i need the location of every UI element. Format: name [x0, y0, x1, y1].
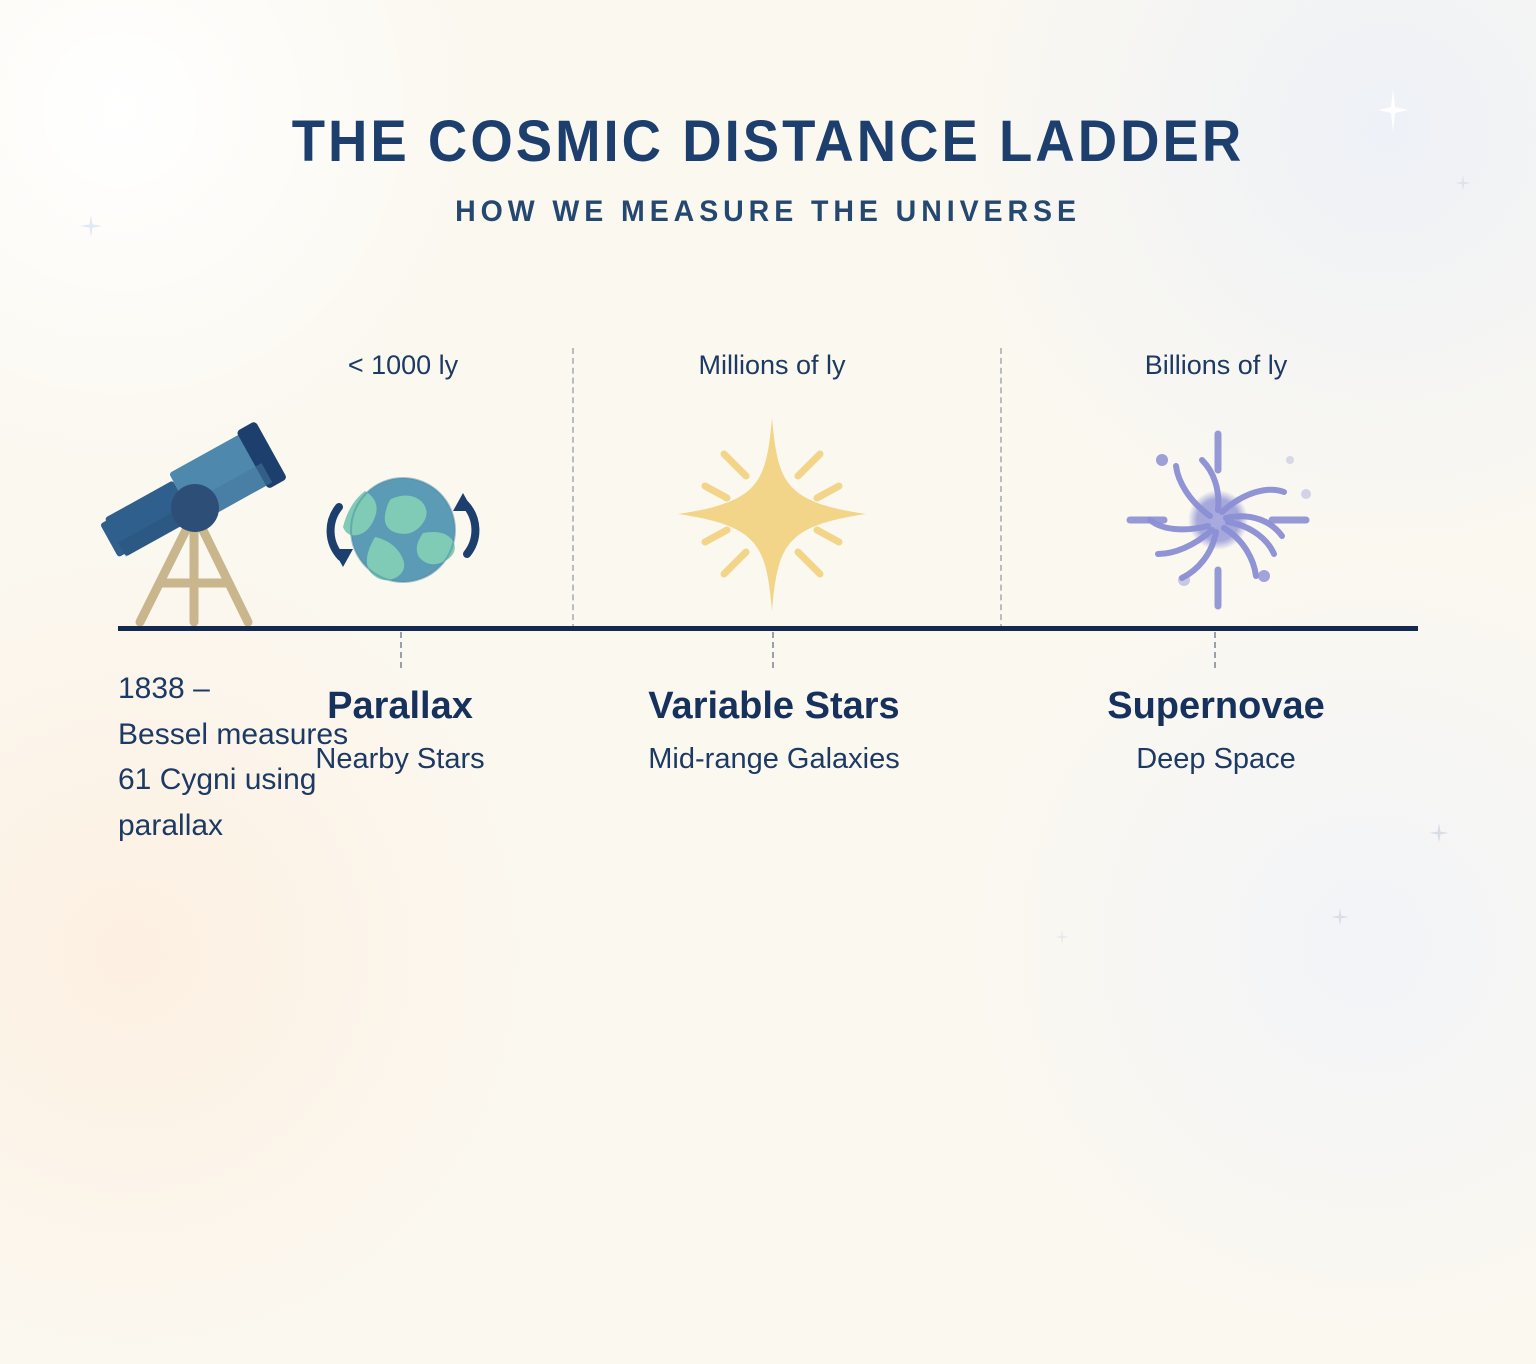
rung-title: Supernovae [1107, 685, 1325, 729]
rung-subtitle: Deep Space [1107, 743, 1325, 776]
axis-tick-supernovae [1214, 632, 1216, 668]
column-divider-2 [1000, 348, 1002, 630]
axis-tick-variable-stars [772, 632, 774, 668]
timeline-axis [118, 626, 1418, 631]
supernova-burst-icon [1118, 420, 1318, 625]
rung-caption-supernovae: Supernovae Deep Space [1107, 685, 1325, 776]
rung-caption-parallax: Parallax Nearby Stars [315, 685, 484, 776]
rung-title: Parallax [315, 685, 484, 729]
axis-tick-parallax [400, 632, 402, 668]
column-divider-1 [572, 348, 574, 630]
distance-label-parallax: < 1000 ly [348, 350, 458, 381]
rung-subtitle: Nearby Stars [315, 743, 484, 776]
distance-label-supernovae: Billions of ly [1145, 350, 1288, 381]
distance-label-variable-stars: Millions of ly [698, 350, 845, 381]
rung-title: Variable Stars [648, 685, 899, 729]
sparkle-star-icon [672, 412, 872, 622]
cosmic-distance-ladder: < 1000 ly Millions of ly Billions of ly [0, 0, 1536, 1024]
earth-rotation-icon [303, 463, 503, 603]
rung-caption-variable-stars: Variable Stars Mid-range Galaxies [648, 685, 899, 776]
rung-subtitle: Mid-range Galaxies [648, 743, 899, 776]
telescope-icon [88, 420, 298, 637]
